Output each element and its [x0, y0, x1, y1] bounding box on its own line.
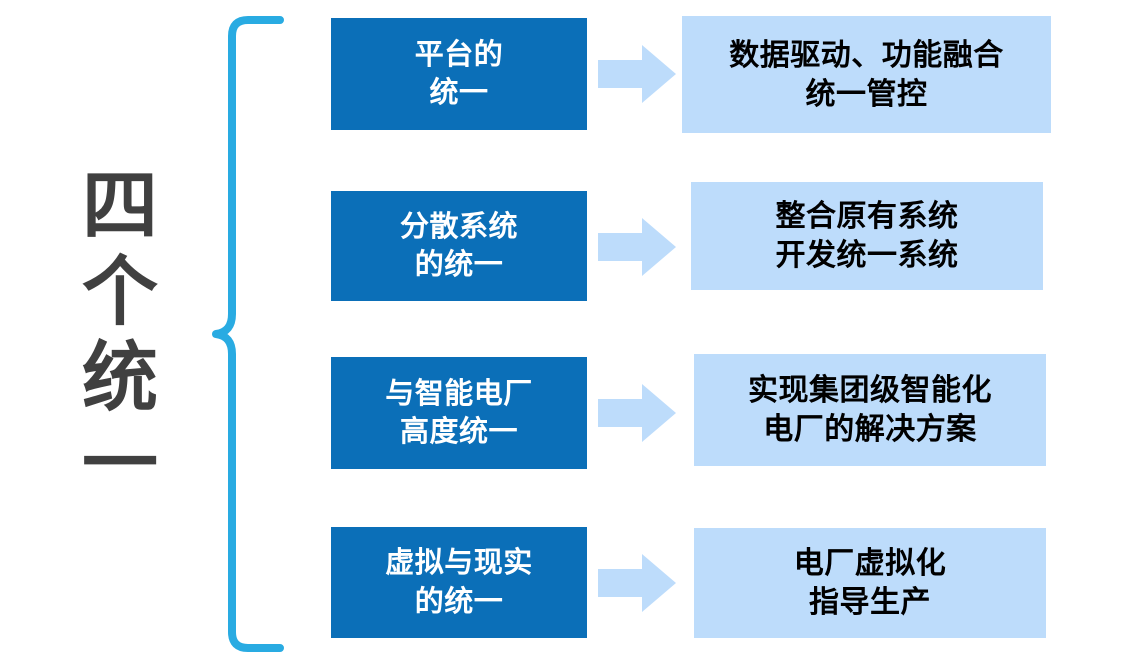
detail-box-row-4-line-2: 指导生产 — [809, 583, 931, 622]
detail-box-row-1[interactable]: 数据驱动、功能融合 统一管控 — [682, 16, 1051, 133]
primary-box-row-2[interactable]: 分散系统 的统一 — [331, 191, 587, 301]
detail-box-row-4-line-1: 电厂虚拟化 — [794, 544, 947, 583]
detail-box-row-3-line-1: 实现集团级智能化 — [748, 371, 992, 410]
vertical-title-char-3: 统 — [82, 340, 158, 418]
vertical-title-char-1: 四 — [82, 168, 158, 246]
primary-box-row-1-line-1: 平台的 — [415, 36, 504, 74]
vertical-title: 四 个 统 一 — [62, 168, 178, 504]
detail-box-row-1-line-1: 数据驱动、功能融合 — [729, 36, 1004, 75]
primary-box-row-3-line-2: 高度统一 — [400, 413, 518, 451]
primary-box-row-3[interactable]: 与智能电厂 高度统一 — [331, 357, 587, 469]
arrow-right-icon-row-3 — [598, 384, 676, 442]
left-curly-brace-icon — [188, 14, 298, 654]
vertical-title-char-4: 一 — [82, 426, 158, 504]
primary-box-row-4-line-1: 虚拟与现实 — [385, 544, 533, 582]
detail-box-row-1-line-2: 统一管控 — [806, 75, 928, 114]
diagram-canvas: 四 个 统 一 平台的 统一 数据驱动、功能融合 统一管控 分散系统 的统一 整… — [0, 0, 1128, 662]
vertical-title-char-2: 个 — [82, 254, 158, 332]
arrow-right-icon-row-1 — [598, 45, 676, 103]
primary-box-row-4-line-2: 的统一 — [415, 583, 504, 621]
detail-box-row-4[interactable]: 电厂虚拟化 指导生产 — [694, 528, 1046, 638]
primary-box-row-3-line-1: 与智能电厂 — [385, 375, 533, 413]
arrow-right-icon-row-4 — [598, 554, 676, 612]
primary-box-row-2-line-1: 分散系统 — [400, 208, 518, 246]
primary-box-row-1-line-2: 统一 — [429, 74, 488, 112]
detail-box-row-3-line-2: 电厂的解决方案 — [763, 410, 977, 449]
detail-box-row-2-line-2: 开发统一系统 — [776, 236, 959, 275]
primary-box-row-1[interactable]: 平台的 统一 — [331, 18, 587, 130]
detail-box-row-3[interactable]: 实现集团级智能化 电厂的解决方案 — [694, 354, 1046, 466]
detail-box-row-2[interactable]: 整合原有系统 开发统一系统 — [691, 182, 1043, 290]
detail-box-row-2-line-1: 整合原有系统 — [776, 197, 959, 236]
primary-box-row-2-line-2: 的统一 — [415, 246, 504, 284]
primary-box-row-4[interactable]: 虚拟与现实 的统一 — [331, 527, 587, 638]
arrow-right-icon-row-2 — [598, 218, 676, 276]
